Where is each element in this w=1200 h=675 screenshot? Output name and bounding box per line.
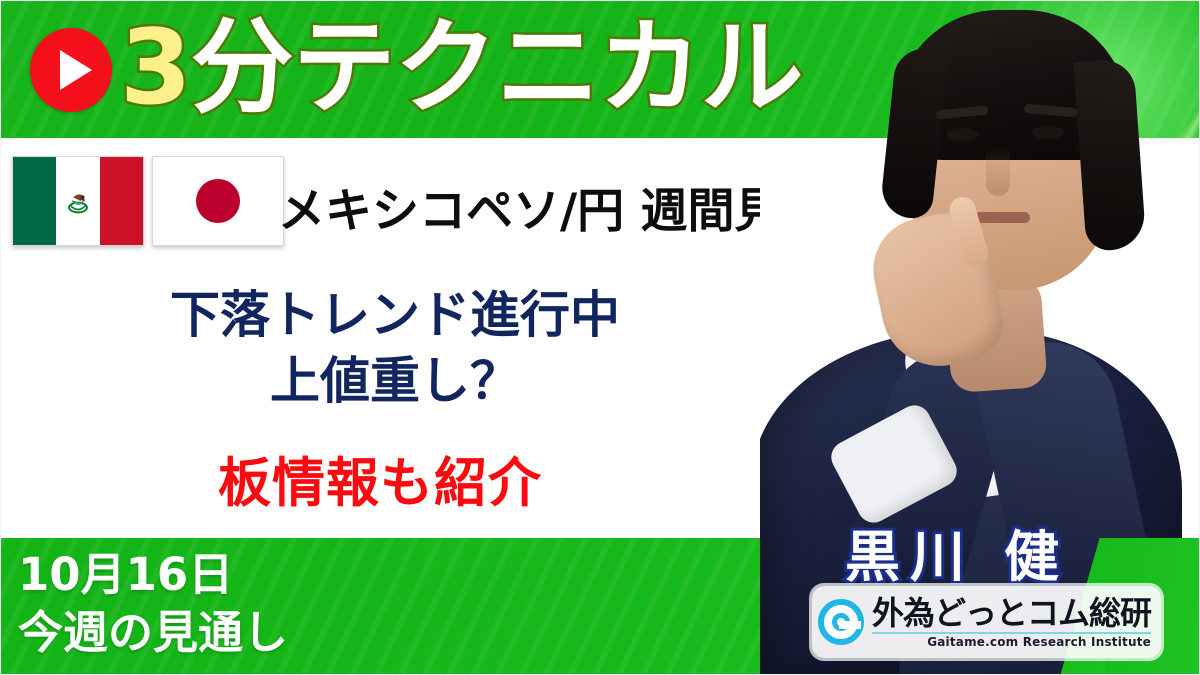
highlight-text: 板情報も紹介 bbox=[0, 452, 760, 516]
mexico-flag-green-band bbox=[13, 157, 56, 245]
footer-subtitle: 今週の見通し bbox=[18, 604, 288, 662]
headline-line-1: 下落トレンド進行中 bbox=[0, 282, 790, 348]
presenter-name: 黒川 健 bbox=[845, 512, 1069, 592]
eye-left bbox=[946, 128, 978, 141]
footer-date: 10月16日 bbox=[18, 546, 288, 604]
nose bbox=[986, 148, 1010, 196]
brand-name-jp: 外為どっとコム総研 bbox=[872, 597, 1151, 629]
video-thumbnail: 3分テクニカル メキシコペソ/円 週間見通し bbox=[0, 0, 1200, 675]
headline: 下落トレンド進行中 上値重し？ bbox=[0, 282, 790, 414]
japan-flag bbox=[152, 156, 284, 246]
eye-right bbox=[1032, 126, 1064, 139]
mexico-flag bbox=[12, 156, 144, 246]
show-title-number: 3 bbox=[120, 8, 191, 128]
brand-divider bbox=[872, 632, 1151, 634]
mexico-flag-red-band bbox=[100, 157, 143, 245]
brand-logo: 外為どっとコム総研 Gaitame.com Research Institute bbox=[812, 586, 1161, 658]
headline-line-2: 上値重し？ bbox=[0, 348, 790, 414]
show-title-rest: 分テクニカル bbox=[191, 8, 803, 128]
brand-text: 外為どっとコム総研 Gaitame.com Research Institute bbox=[872, 597, 1151, 648]
currency-flag-pair bbox=[12, 156, 284, 246]
mouth bbox=[974, 212, 1030, 223]
brand-name-en: Gaitame.com Research Institute bbox=[872, 636, 1151, 648]
show-title: 3分テクニカル bbox=[120, 3, 803, 133]
mexico-flag-white-band bbox=[56, 157, 99, 245]
gaitame-g-icon bbox=[818, 599, 864, 645]
mexico-coat-of-arms-icon bbox=[65, 188, 91, 214]
hair-side-right bbox=[1073, 58, 1146, 252]
play-triangle-icon bbox=[60, 50, 92, 90]
japan-flag-sun-disc bbox=[196, 179, 240, 223]
footer-text-group: 10月16日 今週の見通し bbox=[18, 546, 288, 662]
play-button-icon[interactable] bbox=[30, 28, 112, 112]
